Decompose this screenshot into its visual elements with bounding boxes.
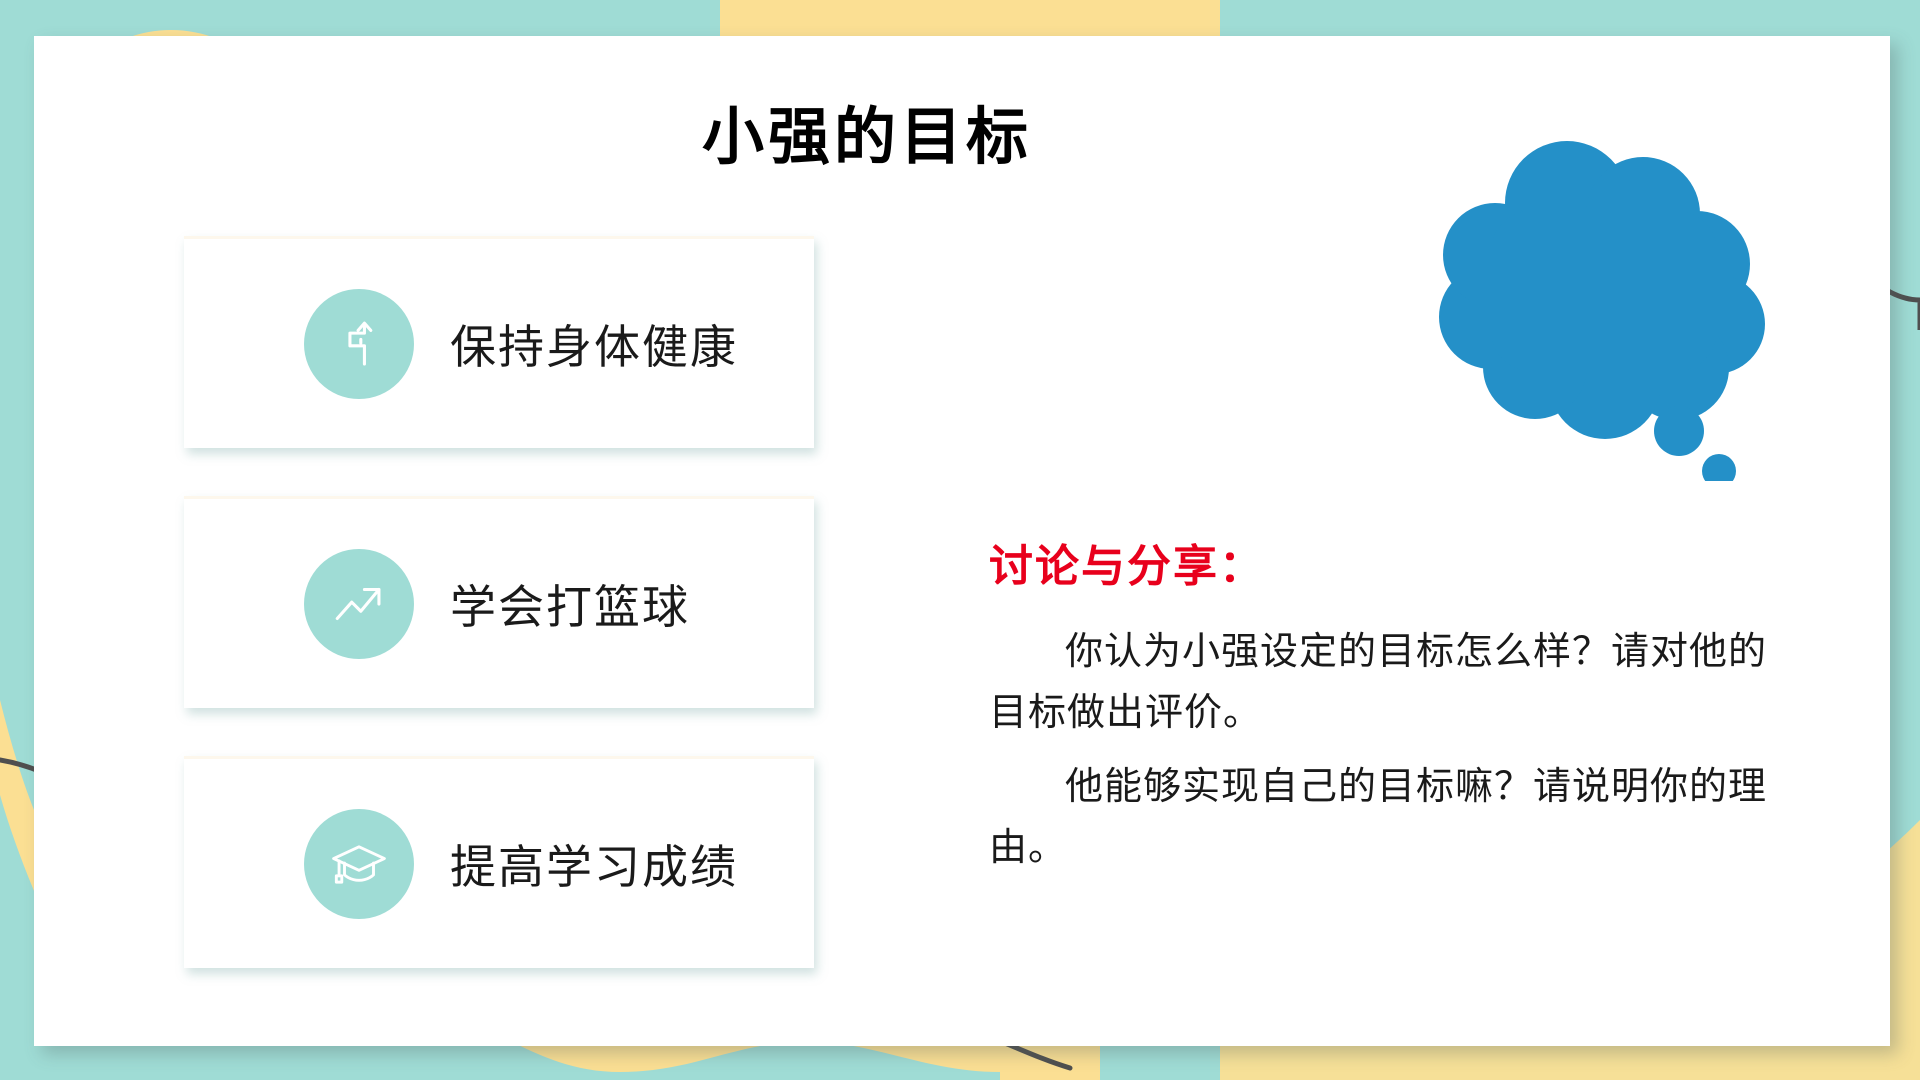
slide-canvas: 小强的目标 保持身体健康 [0,0,1920,1080]
discussion-block: 讨论与分享： 你认为小强设定的目标怎么样？请对他的目标做出评价。 他能够实现自己… [989,541,1799,892]
goal-card-1[interactable]: 保持身体健康 [184,236,814,448]
thought-bubble-icon [1429,131,1769,481]
trending-up-icon [304,549,414,659]
discussion-paragraph-2: 他能够实现自己的目标嘛？请说明你的理由。 [989,757,1799,880]
graduation-cap-icon [304,809,414,919]
goal-label-1: 保持身体健康 [450,311,738,377]
goal-card-3[interactable]: 提高学习成绩 [184,756,814,968]
discussion-heading: 讨论与分享： [989,541,1799,594]
slide-content-card: 小强的目标 保持身体健康 [34,36,1890,1046]
goal-list: 保持身体健康 学会打篮球 [184,236,844,1016]
discussion-paragraph-1: 你认为小强设定的目标怎么样？请对他的目标做出评价。 [989,622,1799,745]
goal-label-2: 学会打篮球 [450,571,690,637]
page-title-text: 小强的目标 [702,106,1032,168]
goal-label-3: 提高学习成绩 [450,831,738,897]
goal-card-2[interactable]: 学会打篮球 [184,496,814,708]
route-arrow-icon [304,289,414,399]
